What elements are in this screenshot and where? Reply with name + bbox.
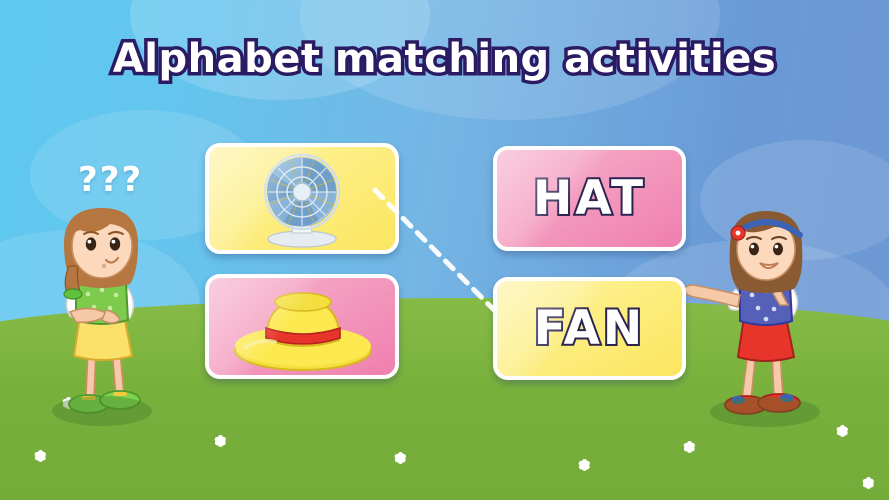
picture-card-hat[interactable] xyxy=(205,274,399,379)
thought-question-marks: ??? xyxy=(78,160,143,200)
word-card-label: HAT xyxy=(497,150,682,247)
pointing-arm xyxy=(684,285,740,307)
word-card-hat[interactable]: HAT xyxy=(493,146,686,251)
eye-right xyxy=(773,243,783,256)
eye-left xyxy=(749,243,759,256)
sun-hat-icon xyxy=(209,278,395,375)
left-girl-character xyxy=(36,200,166,430)
right-girl-character xyxy=(668,205,828,430)
hair-tie xyxy=(64,289,82,299)
page-title: Alphabet matching activities xyxy=(0,36,889,82)
character-shadow xyxy=(710,397,820,427)
picture-card-fan[interactable] xyxy=(205,143,399,254)
word-card-fan[interactable]: FAN xyxy=(493,277,686,380)
eye-left xyxy=(86,237,96,250)
eye-right xyxy=(110,237,120,250)
table-fan-icon xyxy=(209,147,395,250)
game-scene: Alphabet matching activities ??? xyxy=(0,0,889,500)
word-card-label: FAN xyxy=(497,281,682,376)
character-shadow xyxy=(52,396,152,426)
